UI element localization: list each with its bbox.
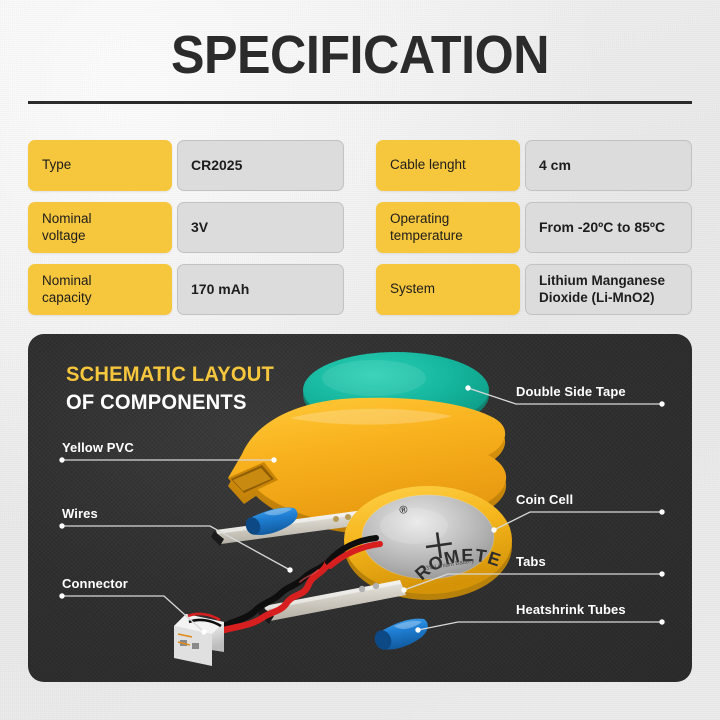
specification-table: Type CR2025 Cable lenght 4 cm Nominal vo… [28,140,692,315]
blue-heatshrink-lower [372,619,428,653]
spec-row-system: System Lithium Manganese Dioxide (Li-MnO… [376,264,692,315]
callout-label-coin-cell: Coin Cell [516,492,573,507]
callout-label-tabs: Tabs [516,554,546,569]
spec-label-cable-length: Cable lenght [376,140,520,191]
spec-value-system-text: Lithium Manganese Dioxide (Li-MnO2) [539,273,665,305]
spec-label-nominal-capacity-text: Nominal capacity [42,273,92,306]
spec-value-type: CR2025 [177,140,344,191]
schematic-title-line2: OF COMPONENTS [66,391,274,415]
spec-value-operating-temperature-text: From -20ºC to 85ºC [539,219,665,236]
spec-label-system-text: System [390,281,435,297]
spec-value-nominal-capacity-text: 170 mAh [191,281,249,298]
header-divider [28,101,692,104]
spec-label-capacity-line1: Nominal [42,273,92,288]
spec-label-nominal-capacity: Nominal capacity [28,264,172,315]
spec-row-nominal-capacity: Nominal capacity 170 mAh [28,264,344,315]
page-header: SPECIFICATION [0,28,720,82]
spec-value-system-line2: Dioxide (Li-MnO2) [539,290,655,305]
callout-label-yellow-pvc: Yellow PVC [62,440,134,455]
metal-tab-lower [258,580,406,624]
spec-value-cable-length-text: 4 cm [539,157,571,174]
connector-pin-slot [192,643,199,649]
spec-value-nominal-capacity: 170 mAh [177,264,344,315]
spec-label-operating-temperature: Operating temperature [376,202,520,253]
spec-value-system-line1: Lithium Manganese [539,273,665,288]
spec-label-capacity-line2: capacity [42,290,92,305]
spec-label-temperature-line2: temperature [390,228,463,243]
spec-label-system: System [376,264,520,315]
spec-label-nominal-voltage-text: Nominal voltage [42,211,92,244]
white-connector [174,614,224,666]
spec-label-voltage-line2: voltage [42,228,86,243]
callout-label-connector: Connector [62,576,128,591]
twisted-wires [224,538,380,630]
spec-label-type-text: Type [42,157,71,173]
schematic-title: SCHEMATIC LAYOUT OF COMPONENTS [66,363,283,414]
spec-label-nominal-voltage: Nominal voltage [28,202,172,253]
spec-row-type: Type CR2025 [28,140,344,191]
spec-value-nominal-voltage-text: 3V [191,219,208,236]
page-title: SPECIFICATION [25,28,695,82]
spec-label-cable-length-text: Cable lenght [390,157,466,173]
spec-label-temperature-line1: Operating [390,211,449,226]
spec-value-type-text: CR2025 [191,157,242,174]
spec-value-operating-temperature: From -20ºC to 85ºC [525,202,692,253]
spec-row-nominal-voltage: Nominal voltage 3V [28,202,344,253]
spec-value-cable-length: 4 cm [525,140,692,191]
schematic-title-line1: SCHEMATIC LAYOUT [66,363,274,387]
callout-label-double-side-tape: Double Side Tape [516,384,626,399]
spec-value-system: Lithium Manganese Dioxide (Li-MnO2) [525,264,692,315]
callout-label-wires: Wires [62,506,98,521]
tab-weld-dot [373,583,379,589]
spec-label-type: Type [28,140,172,191]
tab-weld-dot [345,514,351,520]
tab-weld-dot [359,586,365,592]
tab-weld-dot [333,516,339,522]
spec-label-voltage-line1: Nominal [42,211,92,226]
spec-value-nominal-voltage: 3V [177,202,344,253]
callout-label-heatshrink-tubes: Heatshrink Tubes [516,602,626,617]
schematic-panel: SCHEMATIC LAYOUT OF COMPONENTS [28,334,692,682]
spec-label-operating-temperature-text: Operating temperature [390,211,463,244]
spec-row-operating-temperature: Operating temperature From -20ºC to 85ºC [376,202,692,253]
spec-row-cable-length: Cable lenght 4 cm [376,140,692,191]
